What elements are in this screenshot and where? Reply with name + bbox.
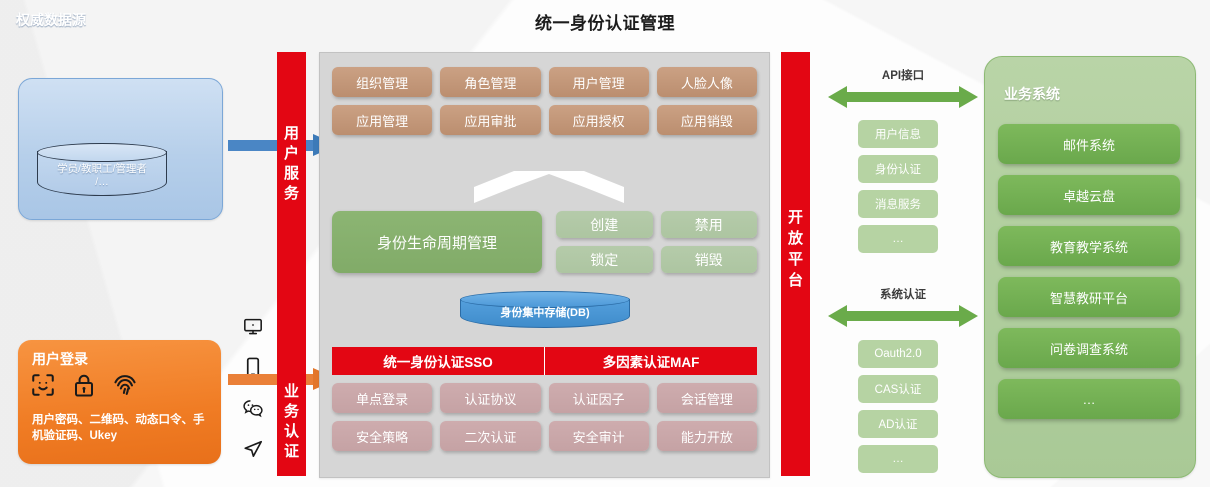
business-systems-title: 业务系统 [1004, 84, 1060, 104]
left-red-band: 用户服务 业务认证 [277, 52, 306, 476]
system-auth-stack: Oauth2.0 CAS认证 AD认证 … [858, 340, 938, 473]
api-chip-ad[interactable]: AD认证 [858, 410, 938, 438]
band-label-user-service: 用户服务 [277, 124, 306, 204]
api-chip-cas[interactable]: CAS认证 [858, 375, 938, 403]
chip-session-management[interactable]: 会话管理 [657, 383, 757, 413]
business-item-research[interactable]: 智慧教研平台 [998, 277, 1180, 317]
chip-disable[interactable]: 禁用 [661, 211, 758, 238]
fingerprint-icon [112, 372, 138, 403]
system-auth-label: 系统认证 [823, 286, 983, 302]
application-chip-row: 应用管理 应用审批 应用授权 应用销毁 [332, 105, 757, 135]
business-item-more[interactable]: … [998, 379, 1180, 419]
face-id-icon [30, 372, 56, 403]
chip-security-policy[interactable]: 安全策略 [332, 421, 432, 451]
chip-app-management[interactable]: 应用管理 [332, 105, 432, 135]
chip-app-destruction[interactable]: 应用销毁 [657, 105, 757, 135]
chip-security-audit[interactable]: 安全审计 [549, 421, 649, 451]
data-source-cylinder: 学员/教职工/管理者 /… [37, 143, 167, 205]
cylinder-label: 学员/教职工/管理者 /… [37, 163, 167, 189]
user-login-icon-row [30, 372, 138, 403]
core-platform-panel: 组织管理 角色管理 用户管理 人脸人像 应用管理 应用审批 应用授权 应用销毁 … [319, 52, 770, 478]
authoritative-data-source-title: 权威数据源 [16, 10, 86, 30]
send-icon [242, 439, 264, 464]
system-auth-double-arrow [828, 305, 978, 327]
page-title: 统一身份认证管理 [0, 9, 1210, 34]
chip-user-management[interactable]: 用户管理 [549, 67, 649, 97]
mfa-header-label: 多因素认证MAF [545, 347, 757, 375]
user-login-title: 用户登录 [32, 349, 88, 369]
lifecycle-ops-grid: 创建 禁用 锁定 销毁 [556, 211, 757, 273]
chip-create[interactable]: 创建 [556, 211, 653, 238]
arrow-head-right [959, 86, 978, 108]
device-icon-column [236, 318, 270, 464]
chip-destroy[interactable]: 销毁 [661, 246, 758, 273]
api-chip-more[interactable]: … [858, 225, 938, 253]
wechat-icon [242, 398, 264, 423]
chevron-up-icon [474, 171, 624, 203]
arrow-shaft [846, 311, 960, 321]
business-item-survey[interactable]: 问卷调查系统 [998, 328, 1180, 368]
chip-app-authorization[interactable]: 应用授权 [549, 105, 649, 135]
db-cylinder-label: 身份集中存储(DB) [460, 304, 630, 320]
chip-secondary-auth[interactable]: 二次认证 [440, 421, 540, 451]
right-red-band: 开放平台 [781, 52, 810, 476]
sso-mfa-header: 统一身份认证SSO 多因素认证MAF [332, 347, 757, 375]
chip-role-management[interactable]: 角色管理 [440, 67, 540, 97]
auth-chip-row-1: 单点登录 认证协议 认证因子 会话管理 [332, 383, 757, 413]
api-interface-label: API接口 [823, 67, 983, 83]
chip-face-portrait[interactable]: 人脸人像 [657, 67, 757, 97]
api-chip-message-service[interactable]: 消息服务 [858, 190, 938, 218]
arrow-head-left [828, 86, 847, 108]
chip-lock[interactable]: 锁定 [556, 246, 653, 273]
chip-app-approval[interactable]: 应用审批 [440, 105, 540, 135]
api-chip-identity-auth[interactable]: 身份认证 [858, 155, 938, 183]
cylinder-top [37, 143, 167, 162]
business-systems-list: 邮件系统 卓越云盘 教育教学系统 智慧教研平台 问卷调查系统 … [998, 124, 1180, 419]
business-item-education[interactable]: 教育教学系统 [998, 226, 1180, 266]
arrow-head-left [828, 305, 847, 327]
chip-org-management[interactable]: 组织管理 [332, 67, 432, 97]
auth-chip-row-2: 安全策略 二次认证 安全审计 能力开放 [332, 421, 757, 451]
business-item-mail[interactable]: 邮件系统 [998, 124, 1180, 164]
sso-header-label: 统一身份认证SSO [332, 347, 544, 375]
band-label-business-auth: 业务认证 [277, 382, 306, 462]
cylinder-label-line1: 学员/教职工/管理者 [37, 163, 167, 176]
management-chip-row: 组织管理 角色管理 用户管理 人脸人像 [332, 67, 757, 97]
identity-storage-cylinder: 身份集中存储(DB) [460, 291, 630, 335]
user-login-box: 用户登录 [18, 340, 221, 464]
user-login-description: 用户密码、二维码、动态口令、手机验证码、Ukey [32, 412, 211, 444]
chip-capability-opening[interactable]: 能力开放 [657, 421, 757, 451]
arrow-shaft [846, 92, 960, 102]
chip-auth-factor[interactable]: 认证因子 [549, 383, 649, 413]
api-chip-oauth2[interactable]: Oauth2.0 [858, 340, 938, 368]
band-label-open-platform: 开放平台 [781, 207, 810, 291]
padlock-icon [72, 372, 96, 403]
api-service-stack: 用户信息 身份认证 消息服务 … [858, 120, 938, 253]
arrow-head-right [959, 305, 978, 327]
business-item-clouddisk[interactable]: 卓越云盘 [998, 175, 1180, 215]
api-chip-more[interactable]: … [858, 445, 938, 473]
chip-auth-protocol[interactable]: 认证协议 [440, 383, 540, 413]
identity-lifecycle-box[interactable]: 身份生命周期管理 [332, 211, 542, 273]
api-double-arrow [828, 86, 978, 108]
cylinder-label-line2: /… [37, 176, 167, 189]
chip-single-sign-on[interactable]: 单点登录 [332, 383, 432, 413]
monitor-icon [243, 318, 263, 341]
api-chip-user-info[interactable]: 用户信息 [858, 120, 938, 148]
